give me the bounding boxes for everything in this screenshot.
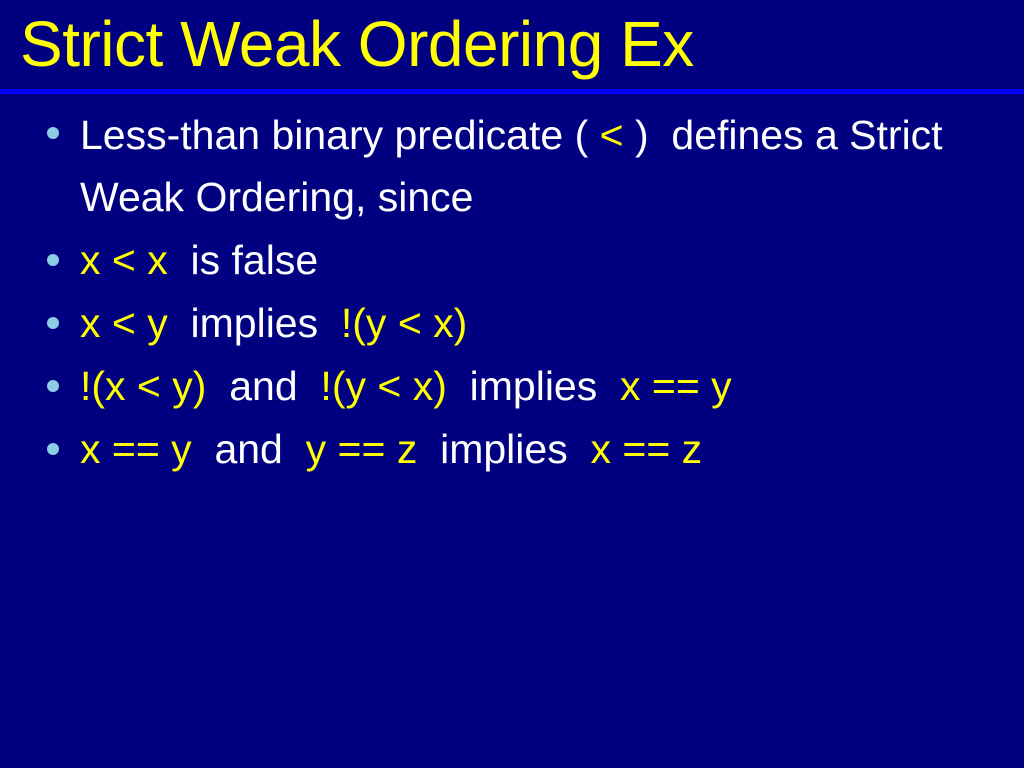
list-item: x == y and y == z implies x == z: [0, 418, 1024, 480]
title-divider: [0, 89, 1024, 94]
bullet-marker-icon: [47, 443, 59, 455]
body-text: is false: [168, 237, 318, 283]
code-text: x == z: [590, 426, 702, 472]
body-text: and: [192, 426, 306, 472]
code-text: <: [600, 112, 624, 158]
body-text: implies: [168, 300, 341, 346]
code-text: !(y < x): [320, 363, 446, 409]
page-title: Strict Weak Ordering Ex: [20, 2, 694, 86]
body-text: Less-than binary predicate (: [80, 112, 600, 158]
body-text: implies: [447, 363, 620, 409]
code-text: x < x: [80, 237, 168, 283]
body-text: and: [206, 363, 320, 409]
code-text: x == y: [80, 426, 192, 472]
bullet-marker-icon: [47, 127, 59, 139]
bullet-marker-icon: [47, 380, 59, 392]
code-text: !(x < y): [80, 363, 206, 409]
list-item: x < y implies !(y < x): [0, 292, 1024, 354]
bullet-list: Less-than binary predicate ( < ) defines…: [0, 104, 1024, 481]
presentation-slide: Strict Weak Ordering Ex Less-than binary…: [0, 0, 1024, 768]
bullet-marker-icon: [47, 317, 59, 329]
code-text: x == y: [620, 363, 732, 409]
code-text: !(y < x): [341, 300, 467, 346]
list-item: Less-than binary predicate ( < ) defines…: [0, 104, 1024, 228]
code-text: y == z: [306, 426, 418, 472]
list-item: x < x is false: [0, 229, 1024, 291]
slide-title-area: Strict Weak Ordering Ex: [0, 0, 1024, 89]
list-item: !(x < y) and !(y < x) implies x == y: [0, 355, 1024, 417]
code-text: x < y: [80, 300, 168, 346]
body-text: implies: [417, 426, 590, 472]
bullet-marker-icon: [47, 254, 59, 266]
